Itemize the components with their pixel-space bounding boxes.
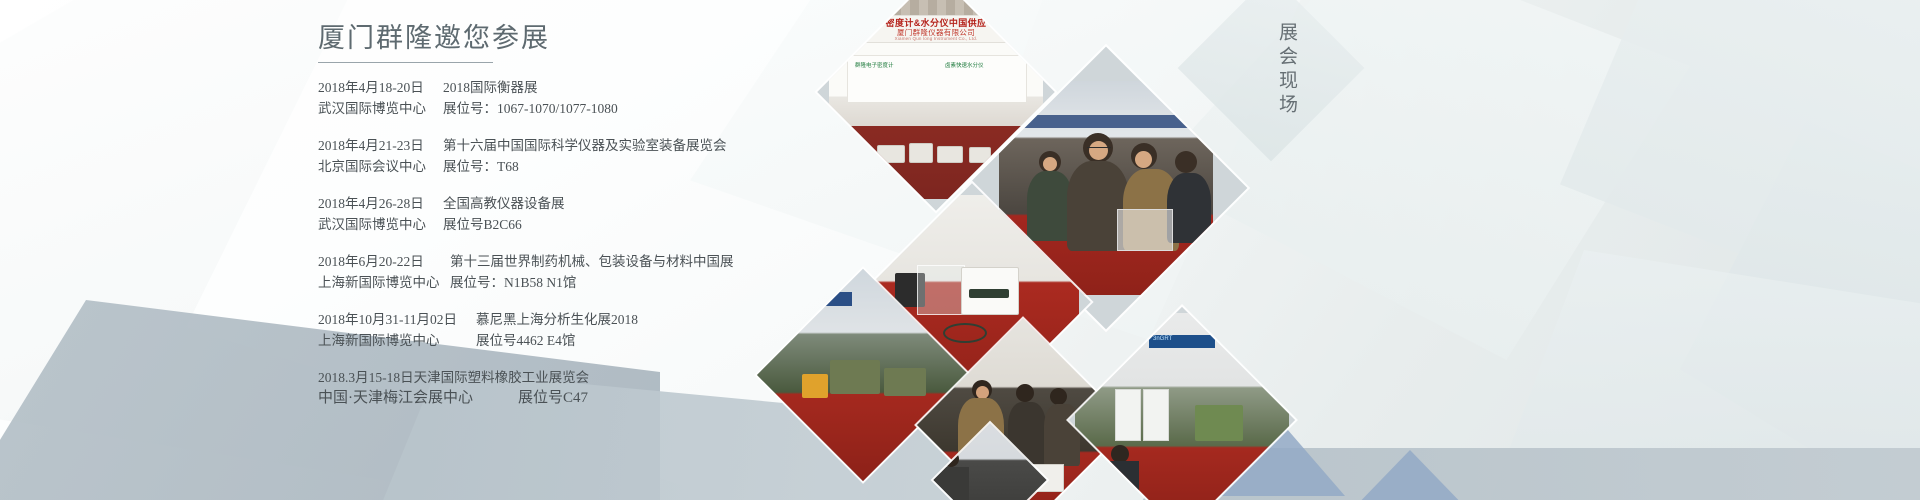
event-venue: 武汉国际博览中心 xyxy=(318,98,443,119)
instrument-b xyxy=(909,143,933,163)
event-booth: 展位号4462 E4馆 xyxy=(476,330,575,351)
person-body xyxy=(933,467,969,500)
machine-unit-a xyxy=(830,360,880,394)
promo-banner: 厦门群隆邀您参展 2018年4月18-20日 2018国际衡器展 武汉国际博览中… xyxy=(0,0,1920,500)
machine-unit-c xyxy=(802,374,828,398)
event-booth: 展位号C47 xyxy=(518,388,588,409)
booth-brand-text: 3nGRT xyxy=(1153,336,1172,342)
event-name: 全国高教仪器设备展 xyxy=(443,193,565,214)
event-booth: 展位号：T68 xyxy=(443,156,519,177)
display-cabinet-b xyxy=(1143,389,1169,441)
bg-polygon-right-c xyxy=(1480,250,1920,500)
event-date: 2018年4月21-23日 xyxy=(318,135,443,156)
bg-triangle-right xyxy=(1350,450,1470,500)
title-underline xyxy=(318,62,493,63)
event-venue: 上海新国际博览中心 xyxy=(318,330,476,351)
event-booth: 展位号B2C66 xyxy=(443,214,522,235)
event-venue: 上海新国际博览中心 xyxy=(318,272,450,293)
person-head-4 xyxy=(1175,151,1197,173)
display-cabinet-a xyxy=(1115,389,1141,441)
person-face-3 xyxy=(1135,151,1152,168)
panel-label-left: 群隆电子密度计 xyxy=(855,61,894,69)
event-date: 2018年4月18-20日 xyxy=(318,77,443,98)
instrument-d xyxy=(969,147,991,163)
event-date: 2018年6月20-22日 xyxy=(318,251,450,272)
photo-collage: 密度计&水分仪中国供应 厦门群隆仪器有限公司 Xiamen Qun long I… xyxy=(830,0,1250,500)
hall-signage-bar xyxy=(999,115,1213,128)
ceiling-texture xyxy=(829,0,1043,15)
photo-green-machine-image: 3nGRT xyxy=(1075,313,1289,500)
event-venue: 北京国际会议中心 xyxy=(318,156,443,177)
event-booth: 展位号：N1B58 N1馆 xyxy=(450,272,576,293)
event-name: 2018国际衡器展 xyxy=(443,77,538,98)
scissors-tool xyxy=(943,323,987,343)
analytical-balance xyxy=(1117,209,1173,251)
display-screen xyxy=(969,289,1009,298)
event-venue: 武汉国际博览中心 xyxy=(318,214,443,235)
section-title-vertical: 展会现场 xyxy=(1253,22,1299,118)
event-venue: 中国·天津梅江会展中心 xyxy=(318,388,518,409)
person-face-1 xyxy=(1043,157,1057,171)
glass-enclosure xyxy=(917,265,965,315)
event-title-line: 2018.3月15-18日天津国际塑料橡胶工业展览会 xyxy=(318,370,589,385)
instrument-a xyxy=(877,145,905,163)
event-booth: 展位号：1067-1070/1077-1080 xyxy=(443,98,618,119)
event-name: 慕尼黑上海分析生化展2018 xyxy=(476,309,638,330)
bg-polygon-right-a xyxy=(1560,0,1920,350)
machine-unit-b xyxy=(884,368,926,396)
green-machine xyxy=(1195,405,1243,441)
instrument-c xyxy=(937,146,963,163)
person-body-4 xyxy=(1167,173,1211,243)
bg-polygon-right-b xyxy=(1680,120,1920,500)
person-head-2 xyxy=(1016,384,1034,402)
person-body xyxy=(1101,461,1139,500)
photo-green-machine-booth: 3nGRT xyxy=(1069,307,1295,500)
person-head-3 xyxy=(1050,388,1067,405)
event-date: 2018年4月26-28日 xyxy=(318,193,443,214)
banner-company-en: Xiamen Qun long Instrument Co., Ltd. xyxy=(829,36,1043,41)
glasses-icon xyxy=(1087,147,1111,152)
panel-label-right: 卤素快速水分仪 xyxy=(945,61,984,69)
event-name: 第十三届世界制药机械、包装设备与材料中国展 xyxy=(450,251,734,272)
event-date: 2018年10月31-11月02日 xyxy=(318,309,476,330)
event-name: 第十六届中国国际科学仪器及实验室装备展览会 xyxy=(443,135,727,156)
